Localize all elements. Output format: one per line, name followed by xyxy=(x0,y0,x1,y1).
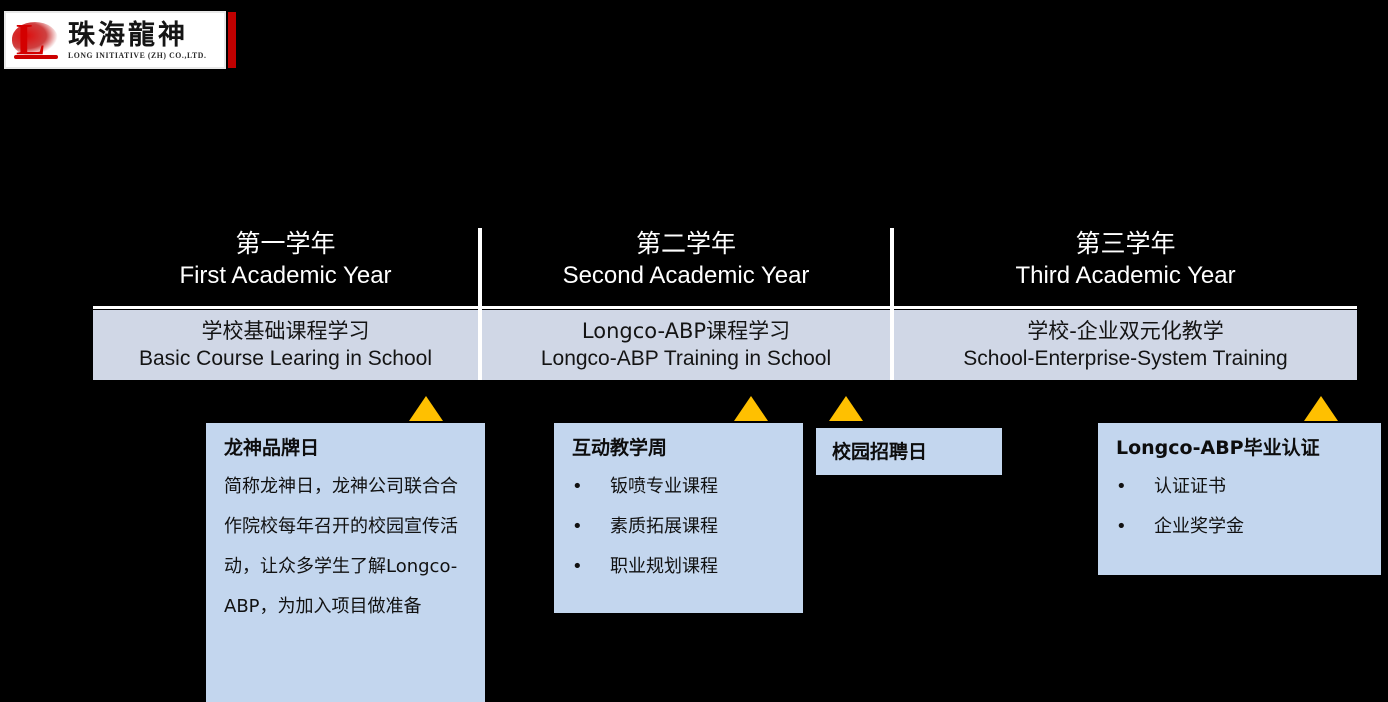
year-2-chinese: 第二学年 xyxy=(636,228,736,260)
card-1-title: 龙神品牌日 xyxy=(224,433,471,463)
phase-1-english: Basic Course Learing in School xyxy=(139,345,432,373)
year-header-1: 第一学年 First Academic Year xyxy=(93,228,478,307)
card-3-title: 校园招聘日 xyxy=(832,439,927,465)
phase-bar-top-rule xyxy=(93,306,1357,309)
card-2-bullet-1: 钣喷专业课程 xyxy=(610,467,718,507)
year-1-chinese: 第一学年 xyxy=(235,228,335,260)
detail-card-graduation-cert[interactable]: Longco-ABP毕业认证 • 认证证书 • 企业奖学金 xyxy=(1098,423,1381,575)
year-3-english: Third Academic Year xyxy=(1015,260,1235,291)
list-item: • 认证证书 xyxy=(1116,467,1367,507)
detail-card-interactive-week[interactable]: 互动教学周 • 钣喷专业课程 • 素质拓展课程 • 职业规划课程 xyxy=(554,423,803,613)
arrow-up-icon-1 xyxy=(409,396,443,421)
company-logo: L 珠海龍神 LONG INITIATIVE (ZH) CO.,LTD. xyxy=(4,11,226,69)
bullet-icon: • xyxy=(572,547,610,587)
year-header-3: 第三学年 Third Academic Year xyxy=(894,228,1357,307)
list-item: • 素质拓展课程 xyxy=(572,507,789,547)
phase-2-english: Longco-ABP Training in School xyxy=(541,345,831,373)
year-1-english: First Academic Year xyxy=(179,260,391,291)
detail-card-campus-recruitment[interactable]: 校园招聘日 xyxy=(816,428,1002,475)
list-item: • 钣喷专业课程 xyxy=(572,467,789,507)
card-1-paragraph: 简称龙神日，龙神公司联合合作院校每年召开的校园宣传活动，让众多学生了解Longc… xyxy=(224,467,471,627)
phase-cell-1[interactable]: 学校基础课程学习 Basic Course Learing in School xyxy=(93,310,478,380)
list-item: • 企业奖学金 xyxy=(1116,507,1367,547)
bullet-icon: • xyxy=(1116,507,1154,547)
card-4-title: Longco-ABP毕业认证 xyxy=(1116,433,1367,463)
logo-accent-bar xyxy=(228,12,236,68)
year-header-2: 第二学年 Second Academic Year xyxy=(482,228,890,307)
arrow-up-icon-4 xyxy=(1304,396,1338,421)
card-2-title: 互动教学周 xyxy=(572,433,789,463)
logo-text: 珠海龍神 LONG INITIATIVE (ZH) CO.,LTD. xyxy=(68,20,211,61)
detail-card-brand-day[interactable]: 龙神品牌日 简称龙神日，龙神公司联合合作院校每年召开的校园宣传活动，让众多学生了… xyxy=(206,423,485,702)
year-2-english: Second Academic Year xyxy=(563,260,810,291)
phase-cell-3[interactable]: 学校-企业双元化教学 School-Enterprise-System Trai… xyxy=(894,310,1357,380)
dragon-logo-icon: L xyxy=(10,16,62,64)
phase-bar: 学校基础课程学习 Basic Course Learing in School … xyxy=(93,310,1357,380)
list-item: • 职业规划课程 xyxy=(572,547,789,587)
logo-chinese-name: 珠海龍神 xyxy=(68,20,211,50)
bullet-icon: • xyxy=(572,467,610,507)
card-2-bullet-3: 职业规划课程 xyxy=(610,547,718,587)
card-4-bullet-list: • 认证证书 • 企业奖学金 xyxy=(1116,467,1367,547)
phase-3-chinese: 学校-企业双元化教学 xyxy=(1027,318,1224,345)
phase-1-chinese: 学校基础课程学习 xyxy=(202,318,370,345)
arrow-up-icon-3 xyxy=(829,396,863,421)
card-2-bullet-2: 素质拓展课程 xyxy=(610,507,718,547)
academic-years-row: 第一学年 First Academic Year 第二学年 Second Aca… xyxy=(93,228,1357,307)
card-2-bullet-list: • 钣喷专业课程 • 素质拓展课程 • 职业规划课程 xyxy=(572,467,789,587)
card-4-bullet-2: 企业奖学金 xyxy=(1154,507,1244,547)
phase-cell-2[interactable]: Longco-ABP课程学习 Longco-ABP Training in Sc… xyxy=(482,310,890,380)
card-4-bullet-1: 认证证书 xyxy=(1154,467,1226,507)
logo-underline-shape xyxy=(14,55,58,59)
bullet-icon: • xyxy=(572,507,610,547)
phase-3-english: School-Enterprise-System Training xyxy=(963,345,1287,373)
logo-letter-l: L xyxy=(16,20,50,60)
bullet-icon: • xyxy=(1116,467,1154,507)
arrow-up-icon-2 xyxy=(734,396,768,421)
logo-english-name: LONG INITIATIVE (ZH) CO.,LTD. xyxy=(68,50,206,61)
year-3-chinese: 第三学年 xyxy=(1075,228,1175,260)
phase-2-chinese: Longco-ABP课程学习 xyxy=(582,318,790,345)
